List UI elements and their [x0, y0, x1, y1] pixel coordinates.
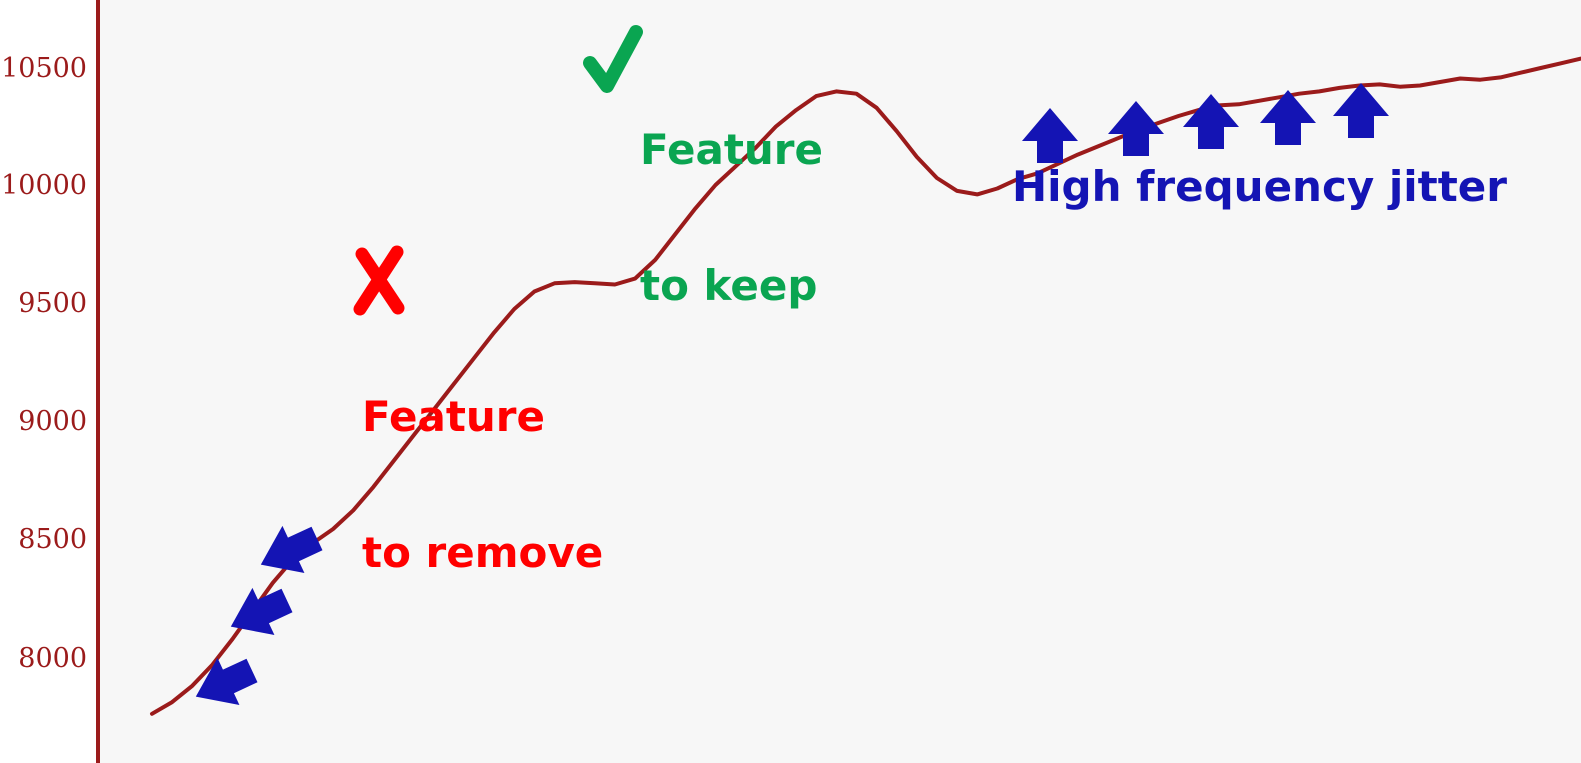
feature-to-remove-line2: to remove — [362, 530, 603, 575]
up-arrow-icon — [1022, 108, 1078, 163]
feature-to-keep-line2: to keep — [640, 263, 823, 308]
up-arrow-icon — [1108, 101, 1164, 156]
up-left-arrow-icon — [250, 515, 328, 588]
feature-to-keep-line1: Feature — [640, 127, 823, 172]
up-arrow-icon — [1260, 90, 1316, 145]
up-left-arrow-icon — [185, 647, 263, 720]
cross-mark-icon — [360, 252, 398, 309]
up-left-arrow-icon-group — [185, 515, 328, 720]
check-mark-icon — [590, 32, 636, 86]
feature-to-remove-label: Feature to remove — [362, 303, 603, 666]
up-arrow-icon — [1183, 94, 1239, 149]
up-arrow-icon-group — [1022, 83, 1389, 163]
chart-figure: 10500 10000 9500 9000 8500 8000 — [0, 0, 1581, 763]
up-arrow-icon — [1333, 83, 1389, 138]
feature-to-keep-label: Feature to keep — [640, 36, 823, 399]
up-left-arrow-icon — [220, 577, 298, 650]
high-frequency-jitter-label: High frequency jitter — [1012, 164, 1507, 209]
feature-to-remove-line1: Feature — [362, 394, 603, 439]
